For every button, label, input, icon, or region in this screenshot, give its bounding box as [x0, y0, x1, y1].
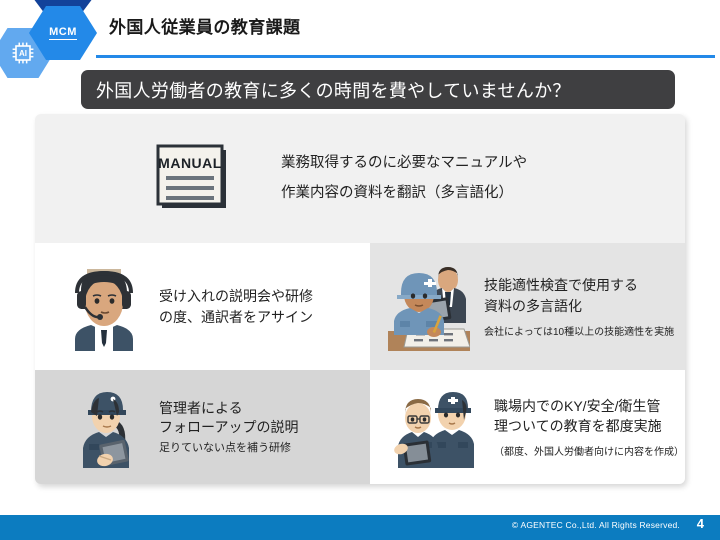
- supervisor-with-tablet-illustration: [75, 386, 143, 468]
- cell-aptitude-body: 技能適性検査で使用する 資料の多言語化 会社によっては10種以上の技能適性を実施: [484, 275, 674, 338]
- logo-text: MCM: [49, 27, 77, 40]
- cell-aptitude-title-line2: 資料の多言語化: [484, 296, 674, 316]
- cell-follow-up-title-line2: フォローアップの説明: [159, 418, 298, 437]
- cell-aptitude-title-line1: 技能適性検査で使用する: [484, 275, 674, 295]
- cell-follow-up-body: 管理者による フォローアップの説明 足りていない点を補う研修: [159, 399, 298, 455]
- cell-safety-title-line2: 理ついての教育を都度実施: [494, 416, 684, 436]
- headset-interpreter-illustration: [65, 263, 143, 351]
- headline-banner-text: 外国人労働者の教育に多くの時間を費やしていませんか？: [96, 77, 571, 103]
- content-panel: MANUAL 業務取得するのに必要なマニュアルや 作業内容の資料を翻訳（多言語化…: [35, 114, 685, 484]
- manual-text-line1: 業務取得するのに必要なマニュアルや: [281, 149, 527, 179]
- cell-follow-up-note: 足りていない点を補う研修: [159, 439, 298, 455]
- cell-follow-up-title: 管理者による フォローアップの説明: [159, 399, 298, 437]
- cell-safety-title-line1: 職場内でのKY/安全/衛生管: [494, 396, 684, 416]
- ai-chip-icon: AI: [10, 40, 36, 66]
- manual-text: 業務取得するのに必要なマニュアルや 作業内容の資料を翻訳（多言語化）: [281, 149, 527, 208]
- cell-follow-up: 管理者による フォローアップの説明 足りていない点を補う研修: [35, 370, 370, 484]
- cell-aptitude-title: 技能適性検査で使用する 資料の多言語化: [484, 275, 674, 316]
- header-divider: [96, 55, 715, 58]
- two-workers-clipboard-illustration: [392, 386, 484, 468]
- cell-safety-note: （都度、外国人労働者向けに内容を作成）: [494, 443, 684, 458]
- manual-text-line2: 作業内容の資料を翻訳（多言語化）: [281, 179, 527, 209]
- cell-safety-training: 職場内でのKY/安全/衛生管 理ついての教育を都度実施 （都度、外国人労働者向け…: [370, 370, 685, 484]
- cell-interpreter-body: 受け入れの説明会や研修 の度、通訳者をアサイン: [159, 286, 313, 327]
- cell-interpreter-title: 受け入れの説明会や研修 の度、通訳者をアサイン: [159, 286, 313, 327]
- svg-text:AI: AI: [19, 49, 27, 58]
- worker-taking-test-illustration: [388, 263, 470, 351]
- cell-follow-up-title-line1: 管理者による: [159, 399, 298, 418]
- footer-copyright: © AGENTEC Co.,Ltd. All Rights Reserved.: [512, 520, 680, 530]
- footer-page-number: 4: [697, 516, 704, 531]
- cell-safety-title: 職場内でのKY/安全/衛生管 理ついての教育を都度実施: [494, 396, 684, 437]
- manual-document-icon: MANUAL: [153, 144, 241, 214]
- cell-safety-body: 職場内でのKY/安全/衛生管 理ついての教育を都度実施 （都度、外国人労働者向け…: [494, 396, 684, 459]
- svg-text:MANUAL: MANUAL: [158, 155, 222, 171]
- cell-interpreter: 受け入れの説明会や研修 の度、通訳者をアサイン: [35, 243, 370, 370]
- cell-aptitude-note: 会社によっては10種以上の技能適性を実施: [484, 323, 674, 338]
- manual-row: MANUAL 業務取得するのに必要なマニュアルや 作業内容の資料を翻訳（多言語化…: [35, 114, 685, 243]
- headline-banner: 外国人労働者の教育に多くの時間を費やしていませんか？: [81, 70, 675, 109]
- cell-aptitude-test: 技能適性検査で使用する 資料の多言語化 会社によっては10種以上の技能適性を実施: [370, 243, 685, 370]
- cell-interpreter-title-line1: 受け入れの説明会や研修: [159, 286, 313, 306]
- page-title: 外国人従業員の教育課題: [109, 13, 300, 38]
- cell-interpreter-title-line2: の度、通訳者をアサイン: [159, 307, 313, 327]
